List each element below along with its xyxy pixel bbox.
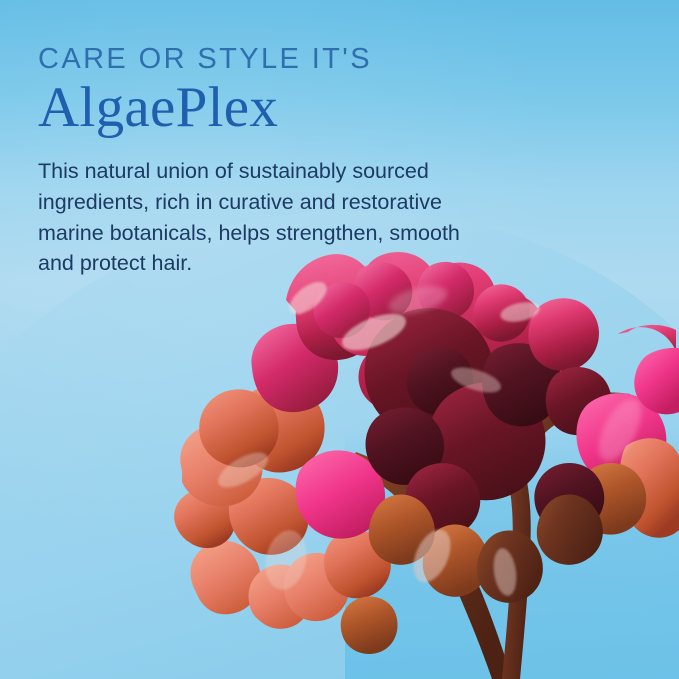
product-wordmark: AlgaePlex	[38, 76, 508, 140]
lobe-lower-left-7	[341, 596, 398, 654]
seaweed-frond-group	[174, 252, 679, 679]
product-banner: CARE OR STYLE IT'S AlgaePlex This natura…	[0, 0, 679, 679]
frond-cluster-lower	[369, 495, 603, 603]
text-block: CARE OR STYLE IT'S AlgaePlex This natura…	[38, 44, 508, 279]
body-copy: This natural union of sustainably source…	[38, 156, 498, 279]
eyebrow-heading: CARE OR STYLE IT'S	[38, 44, 508, 74]
